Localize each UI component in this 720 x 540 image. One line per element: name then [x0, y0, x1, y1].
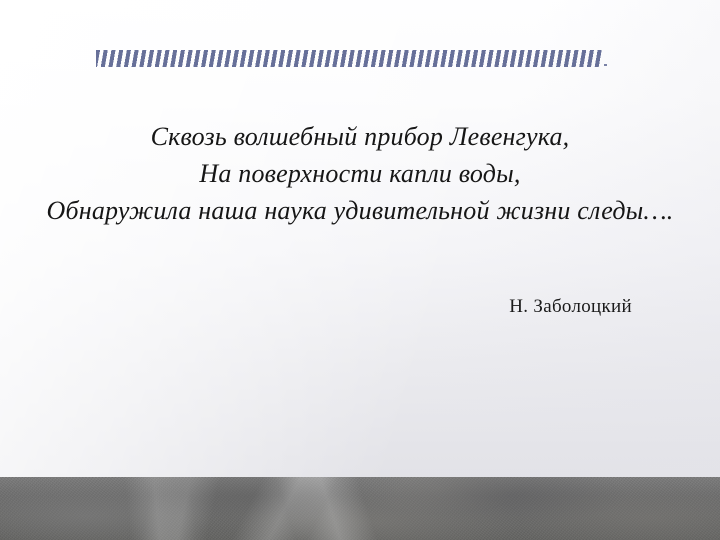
dash-bars [96, 50, 602, 67]
quote-line-2: На поверхности капли воды, [0, 155, 720, 192]
quote-attribution: Н. Заболоцкий [0, 294, 632, 320]
quote-line-1: Сквозь волшебный прибор Левенгука, [0, 118, 720, 155]
background-sheen [0, 0, 720, 478]
dash-trailing-dot [602, 50, 608, 67]
slide-canvas: Сквозь волшебный прибор Левенгука, На по… [0, 0, 720, 540]
dashed-rule-decoration [96, 50, 608, 68]
quote-block: Сквозь волшебный прибор Левенгука, На по… [0, 118, 720, 229]
quote-line-3: Обнаружила наша наука удивительной жизни… [0, 192, 720, 229]
footer-stone-band [0, 477, 720, 540]
